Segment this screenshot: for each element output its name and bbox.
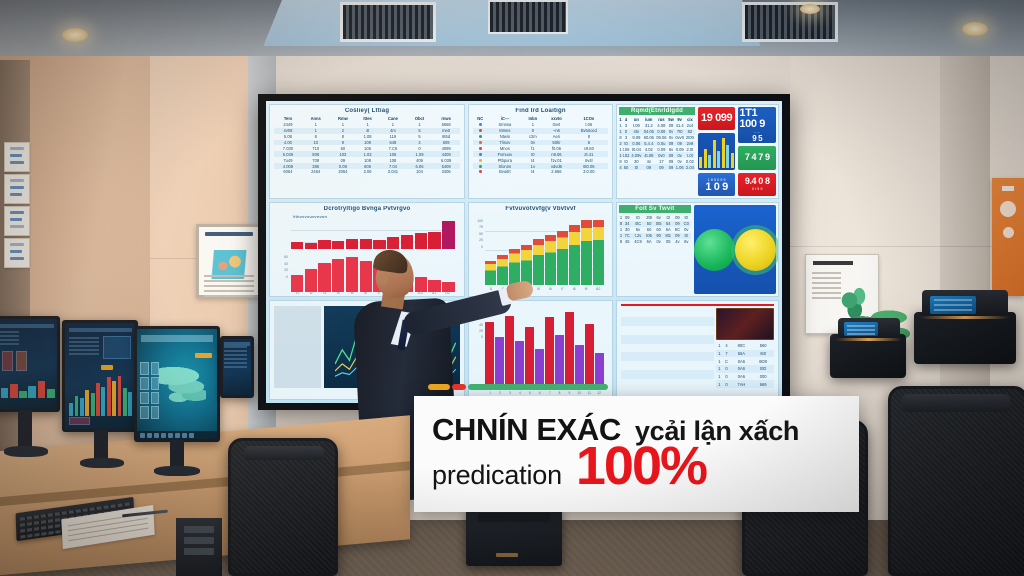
cell: 104 (407, 169, 432, 175)
map-tile-grid[interactable] (140, 362, 159, 419)
table-body: Smnsa10vvtt.06 Mmes0~n6Bvtotocd Ntwinc2m… (473, 122, 608, 175)
cell (668, 335, 684, 344)
monitor-stand (18, 410, 32, 450)
cell (699, 361, 715, 370)
kpi-secondary-value: 9 5 (752, 135, 762, 143)
monitor-screen (223, 339, 251, 395)
cell (621, 379, 637, 388)
banner-percent: 100% (576, 442, 706, 492)
kpi-mini-bar-chart[interactable] (698, 133, 736, 170)
cell (637, 308, 653, 317)
x-tick: t6 (545, 287, 557, 291)
cell: 80C (731, 342, 753, 350)
cell (652, 317, 668, 326)
cell: 6t0 (752, 350, 774, 358)
wall-notice-4 (4, 238, 30, 268)
orange-wall-poster (992, 178, 1024, 296)
table-row (621, 308, 714, 317)
cell (652, 370, 668, 379)
table-row: 1C0A66t00 (716, 357, 774, 365)
panel-title: Dcrotryltigo Bvnga Pvtvrgvo (274, 206, 460, 212)
cell (668, 326, 684, 335)
cell: t4 (522, 169, 543, 175)
cell: 2.04 (685, 164, 695, 170)
stacked-bar (533, 239, 544, 285)
data-table: 1 4 un ium rus 5w 9v cix 13t.0931.24.080… (619, 117, 695, 170)
cell: 0A6 (731, 357, 753, 365)
office-chair-far-right[interactable] (888, 386, 1024, 576)
cell (621, 361, 637, 370)
screen-card (2, 351, 13, 371)
screen-footer (69, 417, 90, 424)
x-tick: t8 (568, 287, 580, 291)
table-row: 107AH669 (716, 380, 774, 388)
cell (637, 317, 653, 326)
cell: 4 (619, 164, 622, 170)
status-dot (479, 123, 482, 126)
monitor-screen (65, 323, 135, 429)
table-body: 1480C560 1756A6t0 1C0A66t00 100A6t0D 100… (716, 342, 774, 388)
x-tick: t9 (580, 287, 592, 291)
cell: 8 (619, 158, 622, 164)
x-tick: t7 (556, 287, 568, 291)
cell (652, 344, 668, 353)
cell (621, 335, 637, 344)
table-row (621, 344, 714, 353)
panel-title: Cośliey( Lttiag (274, 108, 460, 114)
cell: 669 (752, 380, 774, 388)
taskbar[interactable] (137, 431, 217, 439)
screen-header (0, 324, 54, 328)
stacked-bar (569, 225, 580, 285)
status-dot (479, 159, 482, 162)
presenter-ear (379, 274, 388, 285)
chair-lumbar-support (244, 446, 324, 460)
monitor-analytics-3[interactable] (220, 336, 254, 398)
cell: 0v (654, 239, 664, 245)
kpi-card-total[interactable]: 19 099 (698, 107, 736, 130)
cell (621, 326, 637, 335)
cell (637, 379, 653, 388)
table-row: 450t00909091.062.04 (619, 164, 695, 170)
screen-rows (224, 346, 246, 370)
data-table (621, 308, 714, 388)
cell (699, 317, 715, 326)
cell (621, 352, 637, 361)
cell: 560 (752, 342, 774, 350)
panel-activity-forecasting[interactable]: 1480C560 1756A6t0 1C0A66t00 100A6t0D 100… (616, 300, 779, 400)
cell: 2064 (330, 169, 357, 175)
cell: 7 (722, 350, 730, 358)
panel-title (621, 304, 774, 306)
cell: C (722, 357, 730, 365)
right-poster-text (812, 272, 841, 302)
cell: 0.02 (685, 158, 695, 164)
cell (699, 370, 715, 379)
status-dot (479, 170, 482, 173)
cell (683, 370, 699, 379)
kpi-value: 1 0 9 (705, 182, 727, 193)
cell (683, 344, 699, 353)
cell: 0 (722, 373, 730, 381)
cell (637, 335, 653, 344)
screen-bars (1, 378, 55, 398)
cell: t.06 (622, 146, 630, 152)
status-dot (479, 129, 482, 132)
table-row: 6064246420642.063.0411043406 (274, 169, 460, 175)
kpi-value: 7 4 7 9 (745, 153, 770, 162)
table-row: 100A6000 (716, 373, 774, 381)
status-dot (479, 135, 482, 138)
orange-poster-icon-2 (1003, 227, 1014, 238)
cell: 1 (619, 123, 622, 129)
cell (683, 317, 699, 326)
status-dot (479, 141, 482, 144)
data-table: NC iC--- Inbn xxvto 1COs Smnsa10vvtt.06 … (473, 116, 608, 175)
wall-notice-2 (4, 174, 30, 204)
cell (652, 308, 668, 317)
cell: 4.09v (630, 152, 642, 158)
table-row (621, 361, 714, 370)
cell (473, 169, 487, 175)
monitor-analytics-1[interactable] (0, 316, 60, 412)
status-dot (479, 147, 482, 150)
promo-banner: CHNÍN EXÁC ycải lận xấch predication 100… (414, 396, 859, 512)
chair-lumbar-support (902, 394, 1010, 412)
alert-chip[interactable] (101, 365, 112, 369)
kpi-card-alert[interactable]: 9.4 0 8 0 t 9 9 (738, 173, 776, 196)
status-gauge-score[interactable] (735, 229, 776, 271)
panel-title: Find Ird Loaitign (473, 108, 608, 114)
cell: 0vv0 (674, 135, 685, 141)
monitor-base (154, 466, 200, 476)
cell: 4 (722, 342, 730, 350)
y-axis: 6040200 (274, 254, 289, 291)
video-wall[interactable]: Cośliey( Lttiag Tem Anns Rmw Ittes Cane … (258, 94, 790, 410)
status-gauge-ok[interactable] (694, 229, 735, 271)
right-poster-heading (813, 261, 853, 265)
cell (668, 379, 684, 388)
ceiling-vent-1 (340, 2, 436, 42)
kpi-column-right: 1T1 100 9 ····· 9 5 7 4 7 9 9.4 0 8 0 t … (738, 107, 776, 196)
cell: 6A (644, 239, 654, 245)
cell: 2.666 (543, 169, 569, 175)
printer-lid (478, 513, 550, 522)
table-body: 2449111116668 4v08124t4m5me0 5.08881.081… (274, 122, 460, 175)
wall-seam-upper (790, 246, 1024, 247)
screen-header (141, 335, 213, 342)
cell (637, 361, 653, 370)
status-dot (479, 165, 482, 168)
table-row: 8454C96A0v054v6v (619, 239, 691, 245)
cell (621, 370, 637, 379)
cell (683, 361, 699, 370)
banner-line-2: predication 100% (432, 442, 841, 492)
cell: 6064 (274, 169, 302, 175)
cell (668, 361, 684, 370)
scene-root: Cośliey( Lttiag Tem Anns Rmw Ittes Cane … (0, 0, 1024, 576)
cell: 4t.08 (643, 152, 656, 158)
cell: 05 (663, 239, 673, 245)
cell (652, 352, 668, 361)
presenter-pointing-arm (401, 288, 514, 338)
status-dot (479, 153, 482, 156)
legend-list (274, 306, 321, 388)
status-pill-critical[interactable] (452, 384, 466, 390)
floor-printer[interactable] (466, 508, 562, 566)
cell: 50 (622, 164, 630, 170)
wall-notice-1 (4, 142, 30, 172)
cell (683, 352, 699, 361)
cell (668, 317, 684, 326)
banner-subtext: predication (432, 461, 562, 489)
map-alert-chip[interactable] (195, 353, 213, 357)
cell: Bvuitrt (487, 169, 522, 175)
cell: 1 (619, 129, 622, 135)
table-body: 13t.0931.24.080941.42x4 104tn04.060.060v… (619, 123, 695, 170)
downlight-far-right (800, 4, 820, 14)
cell (699, 335, 715, 344)
kpi-column-center: 19 099 (698, 107, 736, 196)
kpi-subvalue: 1 8 5 0 9 5 (708, 178, 726, 182)
kpi-card-secondary[interactable]: 1 8 5 0 9 5 1 0 9 (698, 173, 736, 196)
screen-rows (69, 337, 100, 357)
cell (683, 335, 699, 344)
right-monitor-glow-2 (920, 316, 1010, 319)
cell: 1 (619, 152, 622, 158)
cell: 000 (752, 373, 774, 381)
cell: 0A6 (731, 365, 753, 373)
cell (699, 326, 715, 335)
cell (699, 308, 715, 317)
table-body (621, 308, 714, 388)
table-row: 1756A6t0 (716, 350, 774, 358)
table-row: 1480C560 (716, 342, 774, 350)
panel-title: Rqmd(Etnrldlgdd (619, 107, 695, 115)
cell (652, 335, 668, 344)
table-row (621, 379, 714, 388)
gauge-panel[interactable] (694, 205, 776, 294)
x-tick: t5 (533, 287, 545, 291)
ceiling-vent-3 (742, 2, 838, 42)
cell: 3.041 (379, 169, 407, 175)
cell: 09 (655, 164, 668, 170)
video-wall-screen: Cośliey( Lttiag Tem Anns Rmw Ittes Cane … (266, 101, 782, 403)
framed-poster-text (204, 275, 254, 291)
cell: 8 (619, 135, 622, 141)
cell: 45 (623, 239, 632, 245)
screen-bars (69, 374, 132, 416)
screen-header (224, 342, 249, 346)
cell: 0 (722, 380, 730, 388)
panel-title: Fvtvuvotvvfg(v Vbvtvvf (473, 206, 608, 212)
cell (652, 361, 668, 370)
cell: t0.04 (630, 146, 642, 152)
cell: 09 (668, 164, 675, 170)
screen-header (69, 328, 132, 332)
monitor-screen (0, 319, 57, 409)
cell (621, 344, 637, 353)
right-monitor-screen-2[interactable] (930, 296, 976, 314)
cell: 0.09 (674, 146, 685, 152)
framed-poster-title (205, 232, 253, 236)
stacked-bar (545, 235, 556, 285)
stacked-bar (557, 231, 568, 285)
cell: 1 (619, 146, 622, 152)
table-row (621, 335, 714, 344)
cell: 1.06 (674, 164, 685, 170)
cell (683, 379, 699, 388)
screen-card (103, 336, 131, 359)
cell (637, 352, 653, 361)
cell: 60.06 (643, 135, 656, 141)
map-landmass (159, 360, 205, 413)
cell (652, 326, 668, 335)
cell: 2.06 (356, 169, 379, 175)
downlight-left (62, 28, 88, 42)
screen-rows (0, 331, 19, 347)
status-pill-ok[interactable] (468, 384, 608, 390)
ceiling-vent-2 (488, 0, 568, 34)
table-body: 109t02t96vt309t0 8344tC500t55409C0 1305v… (619, 215, 691, 244)
printer-status-led (496, 553, 518, 557)
orange-poster-heading (1002, 186, 1014, 191)
framed-chart-poster (196, 224, 262, 298)
cell (668, 352, 684, 361)
trend-chart-small: Vthvvvvuvvnvnn (274, 214, 460, 252)
table-row (621, 352, 714, 361)
cell (637, 370, 653, 379)
mini-bars (699, 136, 734, 168)
cell: 3.0.00 (570, 169, 608, 175)
panel-title: Folt Sv Twvit (619, 205, 691, 213)
table-row: Bvuitrtt42.6663.0.00 (473, 169, 608, 175)
kpi-card-target[interactable]: 1T1 100 9 ····· 9 5 (738, 107, 776, 143)
stacked-bar (581, 220, 592, 285)
screen-card (16, 351, 27, 371)
data-table-secondary: 1480C560 1756A6t0 1C0A66t00 100A6t0D 100… (716, 342, 774, 388)
table-row (621, 370, 714, 379)
cell (699, 352, 715, 361)
kpi-value: 19 099 (701, 113, 732, 124)
stacked-bar (521, 245, 532, 285)
cell (668, 370, 684, 379)
cell: 5.4.4 (643, 141, 656, 147)
cell: 4v (673, 239, 682, 245)
cell: 6t00 (752, 357, 774, 365)
cell: t.02 (622, 152, 630, 158)
monitor-screen (137, 329, 217, 439)
presenter-hair (373, 248, 410, 275)
panel-fund-location[interactable]: Find Ird Loaitign NC iC--- Inbn xxvto 1C… (468, 104, 613, 199)
status-pill-warning[interactable] (428, 384, 450, 390)
cell: t0D (752, 365, 774, 373)
cell: 2t00 (685, 135, 695, 141)
kpi-label: ····· (754, 131, 760, 135)
cell: 2 (619, 141, 622, 147)
desktop-tower[interactable] (176, 518, 222, 576)
cell (668, 308, 684, 317)
cell: 4C9 (632, 239, 645, 245)
kpi-value: 1T1 100 9 (739, 108, 775, 130)
cell (683, 308, 699, 317)
stacked-bar (593, 220, 604, 285)
kpi-value: 9.4 0 8 (745, 177, 770, 186)
monitor-analytics-2[interactable] (62, 320, 138, 432)
kpi-card-ok[interactable]: 7 4 7 9 (738, 146, 776, 169)
table-row (621, 317, 714, 326)
cell (699, 379, 715, 388)
cell: 09 (643, 164, 656, 170)
data-table: 109t02t96vt309t0 8344tC500t55409C0 1305v… (619, 215, 691, 244)
table-row: 100A6t0D (716, 365, 774, 373)
right-monitor-glow-1 (836, 338, 902, 341)
panel-quality-listing[interactable]: Cośliey( Lttiag Tem Anns Rmw Ittes Cane … (269, 104, 465, 199)
cell (652, 379, 668, 388)
th: 5w (668, 117, 675, 123)
cell: 0A6 (731, 373, 753, 381)
cell: 0 (722, 365, 730, 373)
chart-subtitle: Vthvvvvuvvnvnn (274, 214, 460, 219)
x-tick: t10 (592, 287, 604, 291)
cell (637, 344, 653, 353)
cell: t0 (630, 164, 642, 170)
monitor-base (4, 446, 48, 457)
cell (621, 317, 637, 326)
cell: 2464 (302, 169, 330, 175)
cell (637, 326, 653, 335)
cell: 7AH (731, 380, 753, 388)
cell (699, 344, 715, 353)
panel-performance-and-kpi[interactable]: Rqmd(Etnrldlgdd 1 4 un ium rus 5w 9v cix (616, 104, 779, 199)
cell: 41.4 (674, 123, 685, 129)
wall-notice-3 (4, 206, 30, 236)
th: 1 (619, 117, 622, 123)
cell: 09.06 (655, 135, 668, 141)
kpi-subvalue: 0 t 9 9 (752, 187, 763, 191)
table-row (621, 326, 714, 335)
cell: 56A (731, 350, 753, 358)
panel-status-and-forecast[interactable]: Folt Sv Twvit 109t02t96vt309t0 8344tC500… (616, 202, 779, 297)
monitor-base (80, 458, 124, 468)
data-table: Tem Anns Rmw Ittes Cane Obct rnws 244911… (274, 116, 460, 175)
promo-thumbnail[interactable] (716, 308, 774, 340)
cell: 04.06 (643, 129, 656, 135)
right-workstation-2[interactable] (914, 312, 1016, 364)
monitor-map[interactable] (134, 326, 220, 442)
panel-status-bar[interactable] (428, 382, 608, 391)
cell (668, 344, 684, 353)
cell: 6v (682, 239, 691, 245)
cell (683, 326, 699, 335)
right-monitor-screen-1[interactable] (844, 322, 878, 336)
trend-bars-small (291, 221, 455, 249)
downlight-right (962, 22, 988, 36)
orange-poster-icon (1000, 201, 1016, 217)
cell: 3406 (432, 169, 460, 175)
cell (621, 308, 637, 317)
